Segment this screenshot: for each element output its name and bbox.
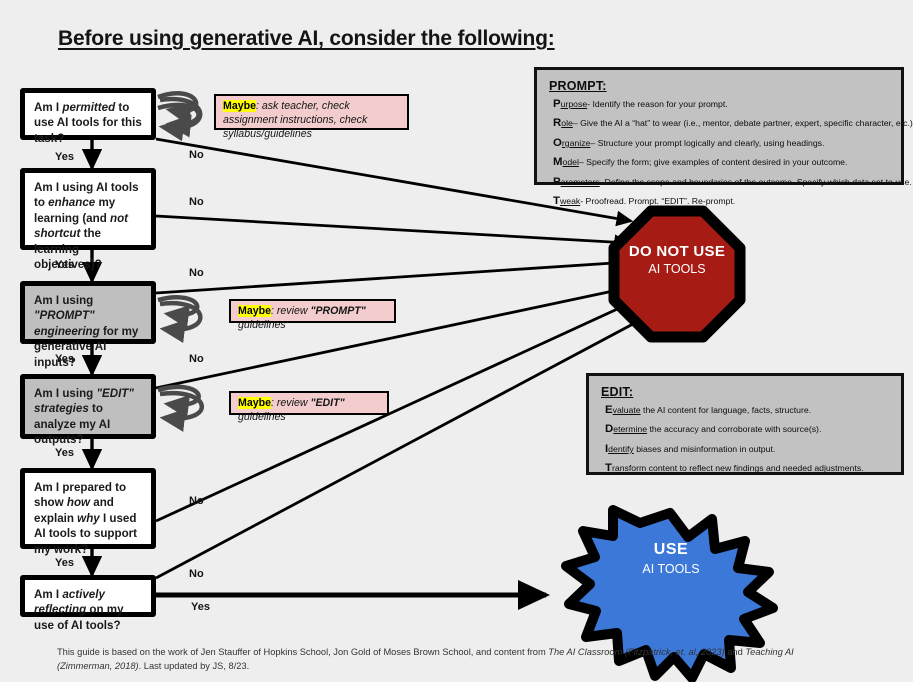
prompt-row-tweak: Tweak- Proofread. Prompt. “EDIT”. Re-pro… — [553, 195, 890, 208]
edge-label-yes-6: Yes — [191, 601, 210, 613]
edit-row-identify: Identify biases and misinformation in ou… — [605, 443, 890, 456]
footer-seg1: This guide is based on the work of Jen S… — [57, 647, 548, 657]
maybe-keyword: Maybe — [238, 397, 271, 409]
edge-label-no-3: No — [189, 267, 204, 279]
maybe-emphasis: "PROMPT" — [310, 305, 365, 317]
edit-row-determine: Determine the accuracy and corroborate w… — [605, 423, 890, 436]
maybe-loop-1 — [158, 93, 200, 127]
prompt-row-role: Role– Give the AI a “hat” to wear (i.e.,… — [553, 117, 890, 130]
maybe-box-ask-teacher[interactable]: Maybe: ask teacher, check assignment ins… — [214, 94, 409, 130]
edge-label-no-4: No — [189, 353, 204, 365]
prompt-reference-panel: PROMPT: Purpose- Identify the reason for… — [534, 67, 904, 185]
question-box-show-how-why[interactable]: Am I prepared to show how and explain wh… — [20, 468, 156, 549]
use-label-secondary: AI TOOLS — [606, 562, 736, 576]
maybe-box-review-edit[interactable]: Maybe: review "EDIT" guidelines — [229, 391, 389, 415]
question-box-edit-strategies[interactable]: Am I using "EDIT" strategies to analyze … — [20, 374, 156, 439]
prompt-row-model: Model– Specify the form; give examples o… — [553, 156, 890, 169]
edit-panel-title: EDIT: — [601, 385, 890, 399]
prompt-row-organize: Organize– Structure your prompt logicall… — [553, 137, 890, 150]
footer-attribution: This guide is based on the work of Jen S… — [57, 645, 802, 674]
flowchart-canvas: Before using generative AI, consider the… — [0, 0, 913, 682]
maybe-keyword: Maybe — [223, 100, 256, 112]
do-not-use-octagon — [614, 211, 740, 337]
question-box-enhance-learning[interactable]: Am I using AI tools to enhance my learni… — [20, 168, 156, 250]
edit-reference-panel: EDIT: Evaluate the AI content for langua… — [586, 373, 904, 475]
edge-label-no-6: No — [189, 568, 204, 580]
edit-row-transform: Transform content to reflect new finding… — [605, 462, 890, 475]
maybe-loop-3 — [158, 387, 202, 419]
maybe-body-pre: : review — [271, 305, 310, 317]
maybe-body-post: guidelines — [238, 319, 286, 331]
footer-seg3: . Last updated by JS, 8/23. — [139, 661, 250, 671]
maybe-keyword: Maybe — [238, 305, 271, 317]
edge-label-yes-1: Yes — [55, 151, 74, 163]
maybe-body-post: guidelines — [238, 411, 286, 423]
edge-label-no-5: No — [189, 495, 204, 507]
page-title: Before using generative AI, consider the… — [58, 27, 658, 51]
maybe-box-review-prompt[interactable]: Maybe: review "PROMPT" guidelines — [229, 299, 396, 323]
maybe-emphasis: "EDIT" — [310, 397, 344, 409]
edge-label-yes-3: Yes — [55, 353, 74, 365]
do-not-use-label-primary: DO NOT USE — [614, 243, 740, 260]
edit-row-evaluate: Evaluate the AI content for language, fa… — [605, 404, 890, 417]
edge-label-yes-4: Yes — [55, 447, 74, 459]
do-not-use-label-secondary: AI TOOLS — [614, 262, 740, 276]
maybe-body-pre: : review — [271, 397, 310, 409]
edge-label-no-2: No — [189, 196, 204, 208]
question-box-prompt-engineering[interactable]: Am I using "PROMPT" engineering for my g… — [20, 281, 156, 344]
edge-label-no-1: No — [189, 149, 204, 161]
edge-label-yes-2: Yes — [55, 259, 74, 271]
question-box-permitted[interactable]: Am I permitted to use AI tools for this … — [20, 88, 156, 140]
prompt-row-purpose: Purpose- Identify the reason for your pr… — [553, 98, 890, 111]
use-label-primary: USE — [606, 541, 736, 559]
footer-seg2: and — [725, 647, 746, 657]
prompt-panel-title: PROMPT: — [549, 79, 890, 93]
footer-title-1: The AI Classroom (Fitzpatrick, et. al, 2… — [548, 647, 724, 657]
edge-label-yes-5: Yes — [55, 557, 74, 569]
question-box-actively-reflecting[interactable]: Am I actively reflecting on my use of AI… — [20, 575, 156, 617]
prompt-row-parameters: Parameters–Define the scope and boundari… — [553, 176, 890, 189]
maybe-loop-2 — [158, 297, 200, 329]
